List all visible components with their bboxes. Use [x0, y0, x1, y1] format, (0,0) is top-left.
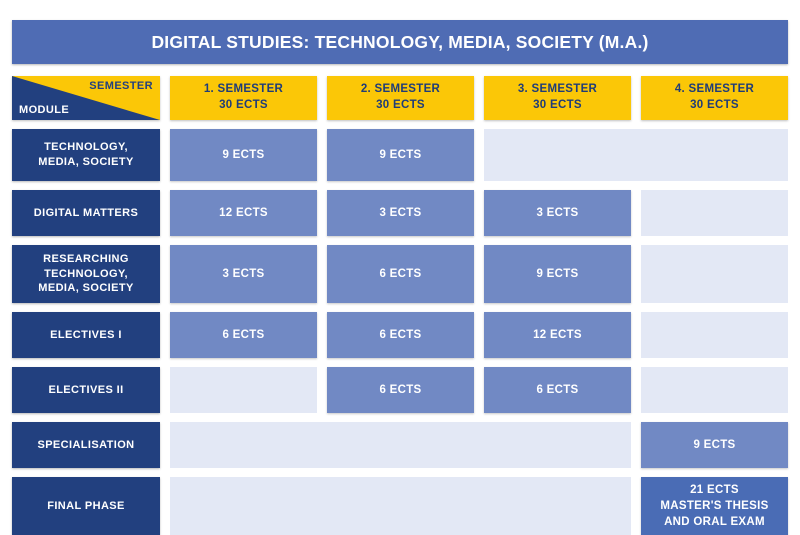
- semester-header-row: SEMESTER MODULE 1. SEMESTER 30 ECTS 2. S…: [12, 76, 788, 120]
- column-header-semester-1: 1. SEMESTER 30 ECTS: [170, 76, 317, 120]
- ects-cell-empty: [641, 190, 788, 236]
- spacer: [160, 129, 170, 181]
- spacer: [160, 76, 170, 120]
- spacer: [160, 422, 170, 468]
- page-title: DIGITAL STUDIES: TECHNOLOGY, MEDIA, SOCI…: [12, 20, 788, 64]
- spacer: [160, 312, 170, 358]
- spacer: [160, 245, 170, 303]
- column-header-name: 4. SEMESTER: [675, 82, 754, 98]
- spacer: [474, 129, 484, 181]
- spacer: [631, 190, 641, 236]
- spacer: [631, 422, 641, 468]
- ects-cell: 9 ECTS: [484, 245, 631, 303]
- spacer: [631, 367, 641, 413]
- spacer: [474, 76, 484, 120]
- spacer: [160, 190, 170, 236]
- module-label-researching-technology-media-society: RESEARCHING TECHNOLOGY, MEDIA, SOCIETY: [12, 245, 160, 303]
- column-header-ects: 30 ECTS: [376, 98, 425, 114]
- ects-cell: 3 ECTS: [170, 245, 317, 303]
- ects-cell-empty: [170, 367, 317, 413]
- column-header-ects: 30 ECTS: [219, 98, 268, 114]
- module-label-digital-matters: DIGITAL MATTERS: [12, 190, 160, 236]
- ects-cell: 6 ECTS: [170, 312, 317, 358]
- ects-cell: 6 ECTS: [327, 312, 474, 358]
- spacer: [631, 477, 641, 535]
- spacer: [631, 312, 641, 358]
- table-row: SPECIALISATION 9 ECTS: [12, 422, 788, 468]
- spacer: [160, 477, 170, 535]
- spacer: [317, 245, 327, 303]
- ects-cell: 6 ECTS: [484, 367, 631, 413]
- column-header-semester-3: 3. SEMESTER 30 ECTS: [484, 76, 631, 120]
- ects-cell: 9 ECTS: [170, 129, 317, 181]
- module-label-electives-ii: ELECTIVES II: [12, 367, 160, 413]
- spacer: [474, 245, 484, 303]
- table-row: ELECTIVES II 6 ECTS 6 ECTS: [12, 367, 788, 413]
- corner-header-cell: SEMESTER MODULE: [12, 76, 160, 120]
- ects-cell-empty: [484, 129, 788, 181]
- ects-cell: 12 ECTS: [170, 190, 317, 236]
- table-row: DIGITAL MATTERS 12 ECTS 3 ECTS 3 ECTS: [12, 190, 788, 236]
- column-header-ects: 30 ECTS: [533, 98, 582, 114]
- spacer: [317, 367, 327, 413]
- module-label-electives-i: ELECTIVES I: [12, 312, 160, 358]
- column-header-semester-2: 2. SEMESTER 30 ECTS: [327, 76, 474, 120]
- curriculum-chart: DIGITAL STUDIES: TECHNOLOGY, MEDIA, SOCI…: [0, 0, 800, 534]
- spacer: [631, 76, 641, 120]
- spacer: [160, 367, 170, 413]
- spacer: [474, 312, 484, 358]
- table-row: ELECTIVES I 6 ECTS 6 ECTS 12 ECTS: [12, 312, 788, 358]
- ects-cell: 3 ECTS: [327, 190, 474, 236]
- module-label-specialisation: SPECIALISATION: [12, 422, 160, 468]
- spacer: [317, 312, 327, 358]
- ects-cell-empty: [641, 312, 788, 358]
- ects-cell-final-thesis: 21 ECTS MASTER'S THESIS AND ORAL EXAM: [641, 477, 788, 535]
- spacer: [317, 129, 327, 181]
- ects-cell-empty: [641, 245, 788, 303]
- ects-cell: 6 ECTS: [327, 367, 474, 413]
- spacer: [631, 245, 641, 303]
- ects-cell-empty: [170, 422, 631, 468]
- ects-cell-empty: [170, 477, 631, 535]
- spacer: [474, 190, 484, 236]
- column-header-name: 2. SEMESTER: [361, 82, 440, 98]
- ects-cell-empty: [641, 367, 788, 413]
- ects-cell: 3 ECTS: [484, 190, 631, 236]
- column-header-name: 1. SEMESTER: [204, 82, 283, 98]
- spacer: [474, 367, 484, 413]
- spacer: [317, 76, 327, 120]
- table-row: TECHNOLOGY, MEDIA, SOCIETY 9 ECTS 9 ECTS: [12, 129, 788, 181]
- module-label-final-phase: FINAL PHASE: [12, 477, 160, 535]
- corner-semester-label: SEMESTER: [89, 80, 153, 92]
- ects-cell: 6 ECTS: [327, 245, 474, 303]
- ects-cell: 9 ECTS: [327, 129, 474, 181]
- ects-cell: 12 ECTS: [484, 312, 631, 358]
- column-header-name: 3. SEMESTER: [518, 82, 597, 98]
- ects-cell: 9 ECTS: [641, 422, 788, 468]
- module-label-technology-media-society: TECHNOLOGY, MEDIA, SOCIETY: [12, 129, 160, 181]
- spacer: [317, 190, 327, 236]
- column-header-semester-4: 4. SEMESTER 30 ECTS: [641, 76, 788, 120]
- column-header-ects: 30 ECTS: [690, 98, 739, 114]
- corner-module-label: MODULE: [19, 104, 69, 116]
- table-row: FINAL PHASE 21 ECTS MASTER'S THESIS AND …: [12, 477, 788, 535]
- table-row: RESEARCHING TECHNOLOGY, MEDIA, SOCIETY 3…: [12, 245, 788, 303]
